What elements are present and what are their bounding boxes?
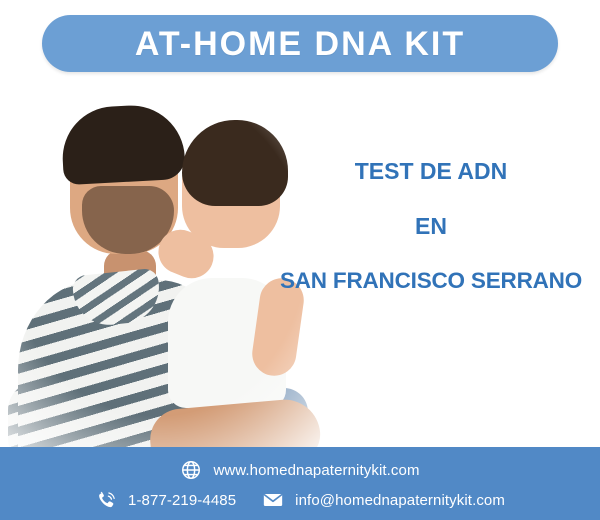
headline-line-location: SAN FRANCISCO SERRANO (262, 270, 600, 293)
website-label: www.homednapaternitykit.com (213, 462, 419, 479)
headline-line-preposition: EN (262, 215, 600, 238)
headline-block: TEST DE ADN EN SAN FRANCISCO SERRANO (262, 160, 600, 293)
contact-website[interactable]: www.homednapaternitykit.com (180, 459, 419, 481)
contact-email[interactable]: info@homednapaternitykit.com (262, 489, 505, 511)
poster: AT-HOME DNA KIT TEST DE ADN EN SAN FRANC… (0, 0, 600, 520)
phone-label: 1-877-219-4485 (128, 492, 236, 509)
contact-phone[interactable]: 1-877-219-4485 (95, 489, 236, 511)
email-label: info@homednapaternitykit.com (295, 492, 505, 509)
footer-row-phone-email: 1-877-219-4485 info@homednapaternitykit.… (0, 485, 600, 515)
phone-icon (95, 489, 117, 511)
header-banner: AT-HOME DNA KIT (42, 15, 558, 72)
envelope-icon (262, 489, 284, 511)
headline-line-service: TEST DE ADN (262, 160, 600, 183)
banner-title: AT-HOME DNA KIT (135, 27, 465, 61)
globe-icon (180, 459, 202, 481)
footer-row-website: www.homednapaternitykit.com (0, 455, 600, 485)
footer-contact-bar: www.homednapaternitykit.com 1-877-219-44… (0, 447, 600, 520)
